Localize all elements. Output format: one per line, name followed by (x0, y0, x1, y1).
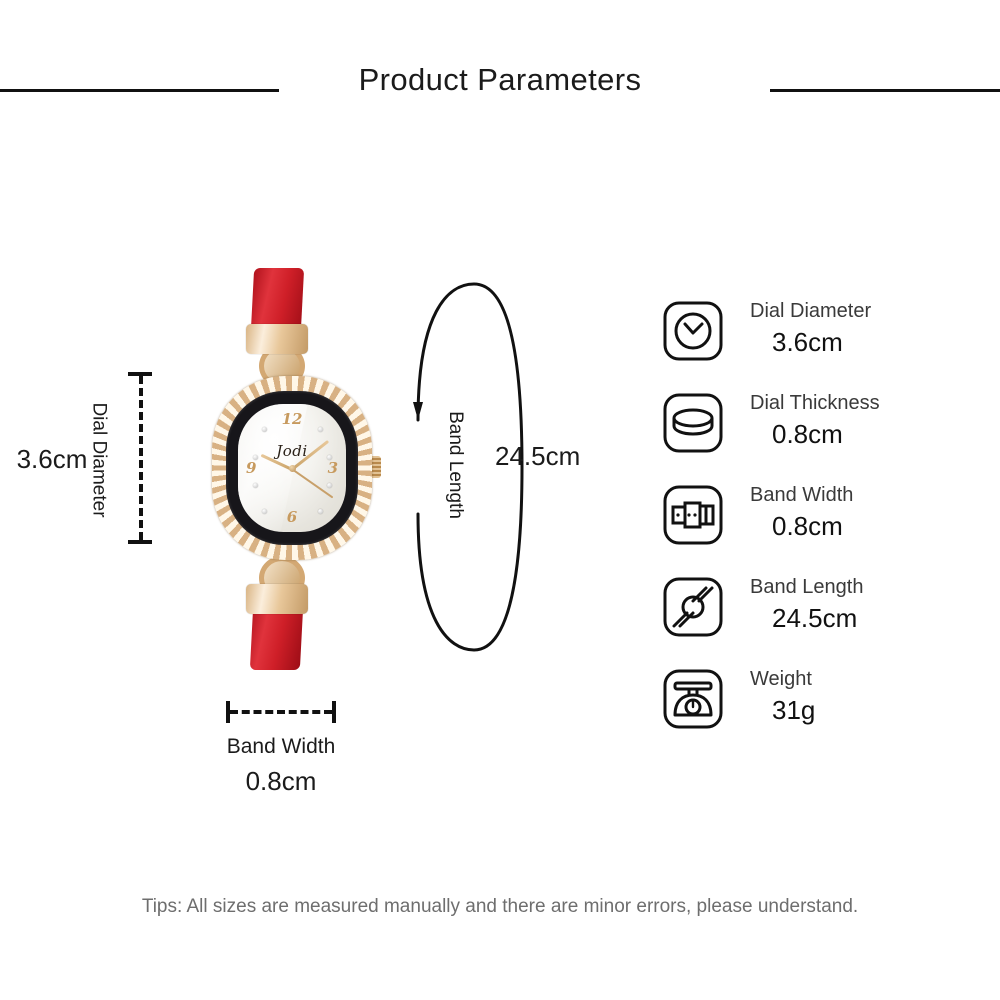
dial-marker-gem (318, 427, 323, 432)
footer-tips: Tips: All sizes are measured manually an… (0, 896, 1000, 918)
spec-label: Band Length (750, 574, 990, 600)
dial-diameter-clock-icon (662, 300, 724, 362)
spec-list: Dial Diameter 3.6cm Dial Thickness 0.8cm (662, 298, 992, 758)
watch-dial: Jodi 12 3 6 9 (238, 404, 346, 532)
spec-label: Band Width (750, 482, 990, 508)
dimension-cap-right (332, 701, 336, 723)
spec-label: Dial Thickness (750, 390, 990, 416)
spec-value: 0.8cm (750, 508, 990, 544)
spec-text-dial-diameter: Dial Diameter 3.6cm (750, 298, 990, 360)
header-rule-right (770, 89, 1000, 92)
dial-thickness-disc-icon (662, 392, 724, 454)
dial-numeral-3: 3 (328, 459, 338, 477)
watch-bezel-inner-ring: Jodi 12 3 6 9 (226, 391, 358, 545)
watch-collar-top (246, 324, 308, 354)
dial-marker-gem (327, 455, 332, 460)
spec-text-band-length: Band Length 24.5cm (750, 574, 990, 636)
spec-row-band-width: Band Width 0.8cm (662, 482, 992, 574)
dimension-dashed-line (139, 376, 143, 540)
spec-text-weight: Weight 31g (750, 666, 990, 728)
band-length-watch-icon (662, 576, 724, 638)
band-length-callout-label-text: Band Length (444, 411, 466, 519)
spec-value: 24.5cm (750, 600, 990, 636)
band-length-callout-label: Band Length (440, 385, 470, 545)
dial-marker-gem (262, 427, 267, 432)
spec-row-dial-diameter: Dial Diameter 3.6cm (662, 298, 992, 390)
watch-product-image: Jodi 12 3 6 9 (196, 268, 392, 668)
band-length-callout-value: 24.5cm (495, 441, 580, 472)
band-width-buckle-icon (662, 484, 724, 546)
dial-diameter-callout-value: 3.6cm (6, 444, 98, 475)
dial-numeral-12: 12 (282, 410, 303, 428)
dimension-cap-bottom (128, 540, 152, 544)
spec-label: Weight (750, 666, 990, 692)
weight-scale-icon (662, 668, 724, 730)
dial-marker-gem (262, 509, 267, 514)
dial-center-pivot (289, 465, 296, 472)
spec-value: 31g (750, 692, 990, 728)
spec-value: 3.6cm (750, 324, 990, 360)
dial-diameter-dimension-line (118, 372, 162, 544)
spec-text-dial-thickness: Dial Thickness 0.8cm (750, 390, 990, 452)
watch-collar-bottom (246, 584, 308, 614)
spec-text-band-width: Band Width 0.8cm (750, 482, 990, 544)
watch-bezel-rhinestone: Jodi 12 3 6 9 (212, 376, 372, 560)
dimension-dashed-line (230, 710, 332, 714)
band-width-callout-value: 0.8cm (181, 766, 381, 797)
page-title: Product Parameters (0, 62, 1000, 98)
spec-row-band-length: Band Length 24.5cm (662, 574, 992, 666)
dial-numeral-9: 9 (246, 459, 256, 477)
band-width-dimension-line (226, 700, 336, 724)
dial-numeral-6: 6 (287, 508, 297, 526)
dial-marker-gem (327, 483, 332, 488)
spec-row-weight: Weight 31g (662, 666, 992, 758)
spec-row-dial-thickness: Dial Thickness 0.8cm (662, 390, 992, 482)
band-width-callout-label: Band Width (181, 735, 381, 759)
spec-value: 0.8cm (750, 416, 990, 452)
spec-label: Dial Diameter (750, 298, 990, 324)
dial-marker-gem (318, 509, 323, 514)
page-header: Product Parameters (0, 62, 1000, 118)
